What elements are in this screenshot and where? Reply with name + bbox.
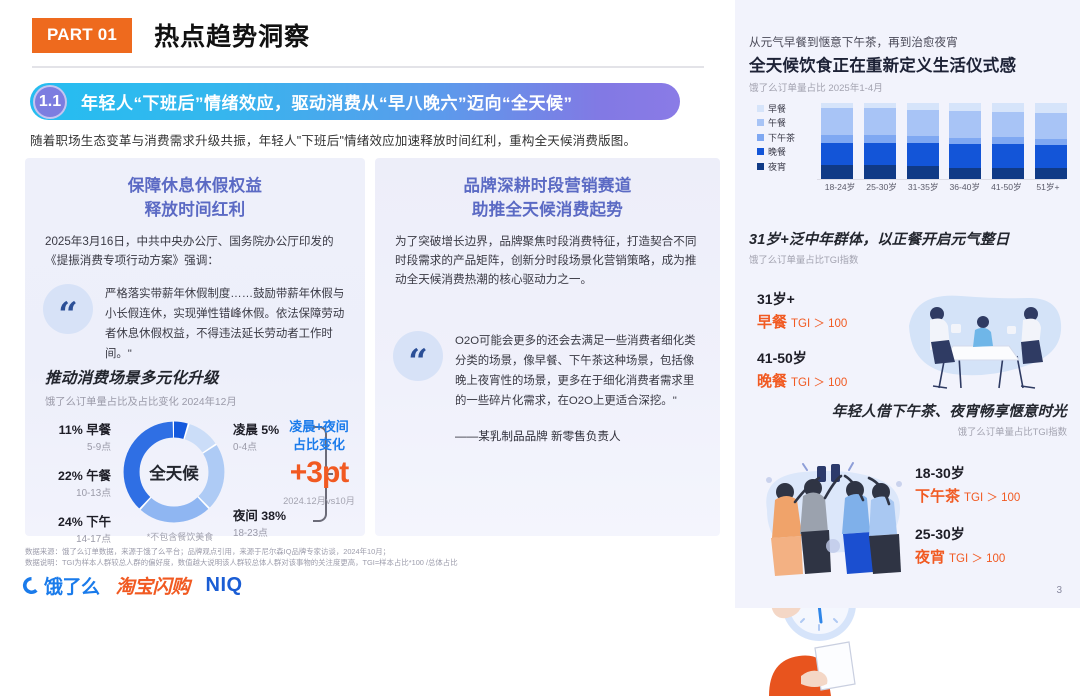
- card-brand-heading: 品牌深耕时段营销赛道 助推全天候消费起势: [375, 158, 720, 222]
- legend-swatch: [757, 134, 764, 141]
- right-panel: 从元气早餐到惬意下午茶，再到治愈夜宵 全天候饮食正在重新定义生活仪式感 饿了么订…: [735, 0, 1080, 608]
- donut-title: 推动消费场景多元化升级: [45, 366, 365, 388]
- quote-glyph: “: [58, 298, 78, 332]
- panel-tgi-midage-title: 31岁+泛中年群体，以正餐开启元气整日: [749, 228, 1067, 249]
- panel-allday: 从元气早餐到惬意下午茶，再到治愈夜宵 全天候饮食正在重新定义生活仪式感 饿了么订…: [749, 34, 1067, 193]
- panel-allday-title: 全天候饮食正在重新定义生活仪式感: [749, 52, 1067, 76]
- card-brand-body: 为了突破增长边界，品牌聚焦时段消费特征，打造契合不同时段需求的产品矩阵，创新分时…: [395, 232, 700, 289]
- tgi-meal: 下午茶: [915, 488, 960, 505]
- bar-segment-夜宵: [864, 165, 896, 179]
- bar-segment-夜宵: [821, 165, 853, 179]
- legend-item-午餐: 午餐: [757, 116, 819, 131]
- bar-segment-夜宵: [992, 168, 1024, 179]
- bar-segment-晚餐: [907, 143, 939, 166]
- callout-head-line1: 凌晨+夜间: [271, 418, 367, 436]
- x-tick-36-40岁: 36-40岁: [946, 181, 984, 193]
- donut-section: 推动消费场景多元化升级 饿了么订单量占比及占比变化 2024年12月 11% 早…: [25, 366, 365, 538]
- donut-label-night: 夜间 38% 18-23点: [233, 506, 286, 539]
- bar-segment-夜宵: [907, 166, 939, 179]
- bar-segment-午餐: [864, 108, 896, 135]
- x-axis-tick-labels: 18-24岁25-30岁31-35岁36-40岁41-50岁51岁+: [821, 181, 1067, 193]
- part-badge: PART 01: [32, 18, 132, 53]
- donut-footnote: *不包含餐饮美食: [125, 530, 235, 543]
- panel-tgi-young: 年轻人借下午茶、夜宵畅享惬意时光 饿了么订单量占比TGI指数: [749, 400, 1067, 580]
- tgi-item: 41-50岁 晚餐TGI ＞ 100: [757, 348, 897, 391]
- legend-label: 下午茶: [768, 131, 795, 144]
- panel-allday-eyebrow: 从元气早餐到惬意下午茶，再到治愈夜宵: [749, 34, 1067, 50]
- chart-legend: 早餐午餐下午茶晚餐夜宵: [757, 101, 819, 174]
- bar-column-25-30岁: [864, 103, 896, 179]
- legend-label: 夜宵: [768, 160, 786, 173]
- page-title: 热点趋势洞察: [154, 17, 310, 53]
- panel-allday-subtitle: 饿了么订单量占比 2025年1-4月: [749, 80, 1067, 94]
- page-number: 3: [1056, 585, 1062, 596]
- bar-column-31-35岁: [907, 103, 939, 179]
- legend-label: 晚餐: [768, 145, 786, 158]
- bar-segment-晚餐: [864, 143, 896, 165]
- bar-segment-早餐: [992, 103, 1024, 112]
- bar-segment-晚餐: [821, 143, 853, 164]
- bar-segment-午餐: [949, 111, 981, 138]
- card-brand-quote: “ O2O可能会更多的还会去满足一些消费者细化类分类的场景，像早餐、下午茶这种场…: [393, 331, 700, 444]
- bar-segment-晚餐: [992, 144, 1024, 168]
- donut-center-label: 全天候: [118, 416, 230, 528]
- legend-item-下午茶: 下午茶: [757, 130, 819, 145]
- logo-niq: NIQ: [206, 574, 243, 597]
- panel-tgi-young-title: 年轻人借下午茶、夜宵畅享惬意时光: [749, 400, 1067, 421]
- tgi-item: 25-30岁 夜宵TGI ＞ 100: [915, 524, 1067, 567]
- footnote: 数据来源：饿了么订单数据，来源于饿了么平台；品牌观点引用，来源于尼尔森IQ品牌专…: [25, 546, 458, 568]
- bar-segment-午餐: [907, 110, 939, 137]
- donut-row: 11% 早餐 5-9点 22% 午餐 10-13点 24% 下午 14-17点: [25, 416, 365, 538]
- bar-segment-晚餐: [1035, 145, 1067, 168]
- quote-mark-icon: “: [393, 331, 443, 381]
- tgi-item: 18-30岁 下午茶TGI ＞ 100: [915, 463, 1067, 506]
- x-tick-18-24岁: 18-24岁: [821, 181, 859, 193]
- header-divider: [32, 66, 704, 68]
- card-policy-body: 2025年3月16日，中共中央办公厅、国务院办公厅印发的《提振消费专项行动方案》…: [45, 232, 345, 270]
- bar-column-41-50岁: [992, 103, 1024, 179]
- logo-taobao-shangou: 淘宝闪购: [116, 572, 190, 599]
- bar-segment-早餐: [1035, 103, 1067, 113]
- donut-subtitle: 饿了么订单量占比及占比变化 2024年12月: [45, 393, 365, 408]
- tgi-meal: 早餐: [757, 314, 787, 331]
- callout-value: +3pt: [271, 456, 367, 490]
- friends-cheers-illustration: [749, 450, 919, 580]
- section-banner: 1.1 年轻人“下班后”情绪效应，驱动消费从“早八晚六”迈向“全天候”: [30, 83, 680, 120]
- bar-column-36-40岁: [949, 103, 981, 179]
- donut-label-lunch: 22% 午餐 10-13点: [33, 466, 111, 499]
- x-tick-51岁+: 51岁+: [1029, 181, 1067, 193]
- legend-item-夜宵: 夜宵: [757, 159, 819, 174]
- card-brand-heading-line2: 助推全天候消费起势: [375, 198, 720, 222]
- bar-segment-下午茶: [907, 136, 939, 143]
- card-policy: 保障休息休假权益 释放时间红利 2025年3月16日，中共中央办公厅、国务院办公…: [25, 158, 365, 536]
- tgi-meal: 晚餐: [757, 373, 787, 390]
- callout-footnote: 2024.12月vs10月: [271, 493, 367, 507]
- legend-label: 午餐: [768, 116, 786, 129]
- x-tick-31-35岁: 31-35岁: [904, 181, 942, 193]
- card-policy-heading: 保障休息休假权益 释放时间红利: [25, 158, 365, 222]
- slide: PART 01 热点趋势洞察 1.1 年轻人“下班后”情绪效应，驱动消费从“早八…: [0, 0, 1080, 608]
- legend-label: 早餐: [768, 102, 786, 115]
- tgi-item: 31岁+ 早餐TGI ＞ 100: [757, 289, 897, 332]
- bar-segment-午餐: [992, 112, 1024, 137]
- x-tick-41-50岁: 41-50岁: [987, 181, 1025, 193]
- card-brand-quote-text: O2O可能会更多的还会去满足一些消费者细化类分类的场景，像早餐、下午茶这种场景，…: [455, 331, 700, 411]
- bar-segment-早餐: [907, 103, 939, 110]
- card-policy-quote: “ 严格落实带薪年休假制度……鼓励带薪年休假与小长假连休，实现弹性错峰休假。依法…: [43, 284, 345, 364]
- card-brand-attribution: ——某乳制品品牌 新零售负责人: [455, 428, 700, 444]
- legend-swatch: [757, 119, 764, 126]
- tgi-value: TGI ＞ 100: [791, 377, 847, 389]
- chart-plot-area: [821, 103, 1067, 179]
- donut-chart: 全天候: [118, 416, 230, 528]
- tgi-value: TGI ＞ 100: [949, 553, 1005, 565]
- bar-column-18-24岁: [821, 103, 853, 179]
- card-policy-quote-text: 严格落实带薪年休假制度……鼓励带薪年休假与小长假连休，实现弹性错峰休假。依法保障…: [105, 284, 345, 364]
- eleme-mark-icon: [22, 576, 41, 595]
- bar-column-51岁+: [1035, 103, 1067, 179]
- bar-segment-午餐: [821, 108, 853, 135]
- logo-row: 饿了么 淘宝闪购 NIQ: [22, 572, 243, 599]
- bar-segment-下午茶: [864, 135, 896, 143]
- stacked-bar-chart: 早餐午餐下午茶晚餐夜宵 18-24岁25-30岁31-35岁36-40岁41-5…: [749, 101, 1067, 193]
- tgi-value: TGI ＞ 100: [791, 318, 847, 330]
- bar-segment-下午茶: [992, 137, 1024, 144]
- left-content-area: PART 01 热点趋势洞察 1.1 年轻人“下班后”情绪效应，驱动消费从“早八…: [0, 0, 735, 608]
- section-title: 年轻人“下班后”情绪效应，驱动消费从“早八晚六”迈向“全天候”: [81, 89, 573, 114]
- section-number-badge: 1.1: [33, 85, 67, 119]
- donut-label-breakfast: 11% 早餐 5-9点: [33, 420, 111, 453]
- footnote-line1: 数据来源：饿了么订单数据，来源于饿了么平台；品牌观点引用，来源于尼尔森IQ品牌专…: [25, 546, 458, 557]
- card-brand: 品牌深耕时段营销赛道 助推全天候消费起势 为了突破增长边界，品牌聚焦时段消费特征…: [375, 158, 720, 536]
- part-header: PART 01 热点趋势洞察: [32, 17, 310, 53]
- panel-tgi-midage: 31岁+泛中年群体，以正餐开启元气整日 饿了么订单量占比TGI指数 31岁+ 早…: [749, 228, 1067, 398]
- bar-segment-午餐: [1035, 113, 1067, 139]
- legend-swatch: [757, 105, 764, 112]
- x-axis-line: [817, 179, 1065, 180]
- donut-label-afternoon: 24% 下午 14-17点: [33, 512, 111, 545]
- logo-eleme: 饿了么: [22, 572, 100, 599]
- quote-mark-icon: “: [43, 284, 93, 334]
- tgi-meal: 夜宵: [915, 549, 945, 566]
- panel-tgi-midage-sub: 饿了么订单量占比TGI指数: [749, 252, 1067, 266]
- card-brand-heading-line1: 品牌深耕时段营销赛道: [375, 174, 720, 198]
- callout-change: 凌晨+夜间 占比变化 +3pt 2024.12月vs10月: [271, 418, 367, 507]
- card-policy-heading-line1: 保障休息休假权益: [25, 174, 365, 198]
- legend-swatch: [757, 163, 764, 170]
- family-dining-table-illustration: [895, 282, 1067, 398]
- intro-paragraph: 随着职场生态变革与消费需求升级共振，年轻人"下班后"情绪效应加速释放时间红利，重…: [30, 130, 720, 149]
- legend-swatch: [757, 148, 764, 155]
- bar-segment-早餐: [949, 103, 981, 111]
- callout-head-line2: 占比变化: [271, 436, 367, 454]
- quote-glyph: “: [408, 345, 428, 379]
- bar-segment-夜宵: [1035, 168, 1067, 179]
- bar-segment-晚餐: [949, 144, 981, 168]
- legend-item-晚餐: 晚餐: [757, 145, 819, 160]
- bar-segment-下午茶: [821, 135, 853, 143]
- card-policy-heading-line2: 释放时间红利: [25, 198, 365, 222]
- panel-tgi-young-sub: 饿了么订单量占比TGI指数: [749, 424, 1067, 438]
- logo-eleme-text: 饿了么: [44, 572, 100, 599]
- legend-item-早餐: 早餐: [757, 101, 819, 116]
- x-tick-25-30岁: 25-30岁: [863, 181, 901, 193]
- donut-labels-left: 11% 早餐 5-9点 22% 午餐 10-13点 24% 下午 14-17点: [33, 420, 111, 545]
- bar-segment-夜宵: [949, 168, 981, 179]
- tgi-value: TGI ＞ 100: [964, 492, 1020, 504]
- footnote-line2: 数据说明：TGI为样本人群较总人群的偏好度，数值越大说明该人群较总体人群对该事物…: [25, 557, 458, 568]
